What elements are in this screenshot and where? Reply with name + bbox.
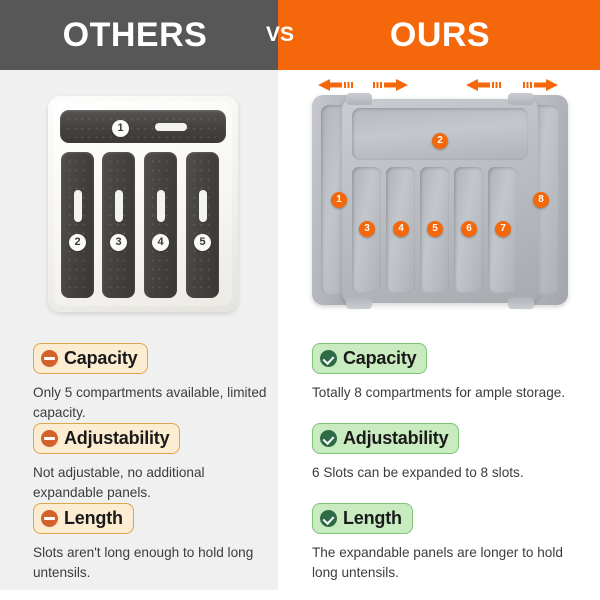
left-compartment-1 <box>60 110 226 143</box>
minus-circle-icon <box>41 510 58 527</box>
left-compartment-5 <box>186 152 219 298</box>
right-capacity-badge: Capacity <box>312 343 427 374</box>
header-ours-title: OURS <box>330 0 550 70</box>
expansion-arrows-group <box>312 78 568 92</box>
grip-handle-icon <box>74 190 82 222</box>
header-vs-label: VS <box>250 0 310 70</box>
left-badge-1: 1 <box>112 120 129 137</box>
right-capacity-description: Totally 8 compartments for ample storage… <box>312 383 577 403</box>
minus-circle-icon <box>41 430 58 447</box>
right-feature-capacity: Capacity Totally 8 compartments for ampl… <box>312 343 577 403</box>
left-badge-5: 5 <box>194 234 211 251</box>
left-badge-3: 3 <box>110 234 127 251</box>
left-capacity-badge: Capacity <box>33 343 148 374</box>
left-adjustability-badge: Adjustability <box>33 423 180 454</box>
minus-circle-icon <box>41 350 58 367</box>
texture-dots <box>191 157 214 293</box>
check-circle-icon <box>320 510 337 527</box>
slider-tab-bottom-right <box>508 297 534 309</box>
left-feature-length: Length Slots aren't long enough to hold … <box>33 503 268 582</box>
right-badge-2: 2 <box>432 133 448 149</box>
right-badge-1: 1 <box>331 192 347 208</box>
right-badge-6: 6 <box>461 221 477 237</box>
right-badge-3: 3 <box>359 221 375 237</box>
right-feature-adjustability: Adjustability 6 Slots can be expanded to… <box>312 423 577 483</box>
left-feature-adjustability: Adjustability Not adjustable, no additio… <box>33 423 268 502</box>
comparison-infographic: OTHERS VS OURS 1 2 3 4 5 <box>0 0 600 600</box>
grip-handle-icon <box>155 123 187 131</box>
right-adjustability-label: Adjustability <box>343 428 448 449</box>
left-length-label: Length <box>64 508 123 529</box>
left-capacity-description: Only 5 compartments available, limited c… <box>33 383 268 422</box>
left-capacity-label: Capacity <box>64 348 137 369</box>
right-adjustability-badge: Adjustability <box>312 423 459 454</box>
left-length-badge: Length <box>33 503 134 534</box>
right-length-badge: Length <box>312 503 413 534</box>
check-circle-icon <box>320 350 337 367</box>
arrow-left-icon <box>316 78 356 92</box>
left-compartment-3 <box>102 152 135 298</box>
texture-dots <box>107 157 130 293</box>
arrow-right-icon <box>520 78 560 92</box>
right-badge-8: 8 <box>533 192 549 208</box>
right-badge-5: 5 <box>427 221 443 237</box>
left-compartment-2 <box>61 152 94 298</box>
check-circle-icon <box>320 430 337 447</box>
left-adjustability-description: Not adjustable, no additional expandable… <box>33 463 268 502</box>
left-product-image: 1 2 3 4 5 <box>48 96 238 312</box>
right-length-label: Length <box>343 508 402 529</box>
right-product-image: 1 2 3 4 5 6 7 8 <box>312 95 568 305</box>
left-badge-2: 2 <box>69 234 86 251</box>
slider-tab-left <box>346 93 372 105</box>
left-adjustability-label: Adjustability <box>64 428 169 449</box>
grip-handle-icon <box>115 190 123 222</box>
right-length-description: The expandable panels are longer to hold… <box>312 543 577 582</box>
right-feature-length: Length The expandable panels are longer … <box>312 503 577 582</box>
right-tray-body <box>342 99 538 303</box>
left-feature-capacity: Capacity Only 5 compartments available, … <box>33 343 268 422</box>
grip-handle-icon <box>157 190 165 222</box>
left-compartment-4 <box>144 152 177 298</box>
right-capacity-label: Capacity <box>343 348 416 369</box>
texture-dots <box>149 157 172 293</box>
left-badge-4: 4 <box>152 234 169 251</box>
header-bar: OTHERS VS OURS <box>0 0 600 70</box>
texture-dots <box>66 157 89 293</box>
slider-tab-right <box>508 93 534 105</box>
arrow-left-icon <box>464 78 504 92</box>
right-badge-7: 7 <box>495 221 511 237</box>
left-length-description: Slots aren't long enough to hold long un… <box>33 543 268 582</box>
right-badge-4: 4 <box>393 221 409 237</box>
slider-tab-bottom-left <box>346 297 372 309</box>
texture-dots <box>65 115 221 138</box>
header-others-title: OTHERS <box>10 0 260 70</box>
grip-handle-icon <box>199 190 207 222</box>
right-adjustability-description: 6 Slots can be expanded to 8 slots. <box>312 463 577 483</box>
arrow-right-icon <box>370 78 410 92</box>
